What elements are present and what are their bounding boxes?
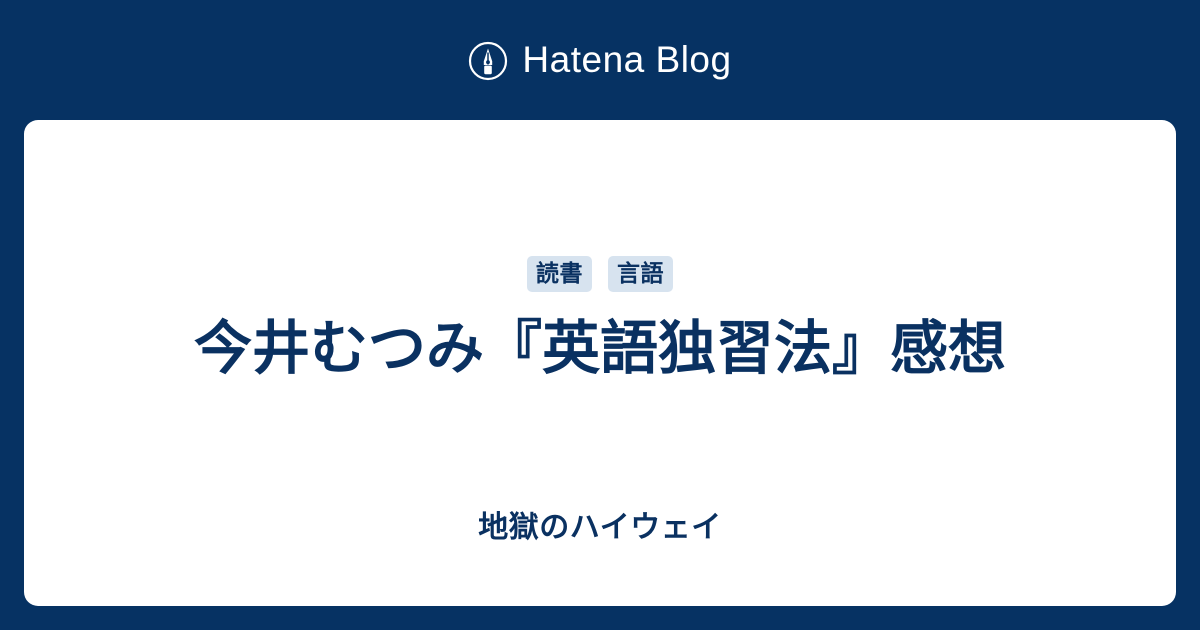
fountain-pen-nib-icon (468, 41, 508, 81)
entry-title: 今井むつみ『英語独習法』感想 (24, 310, 1176, 388)
entry-tag[interactable]: 読書 (527, 256, 592, 292)
entry-tag[interactable]: 言語 (608, 256, 673, 292)
blog-title[interactable]: 地獄のハイウェイ (24, 508, 1176, 548)
og-image-card: Hatena Blog 読書 言語 今井むつみ『英語独習法』感想 地獄のハイウェ… (0, 0, 1200, 630)
entry-card: 読書 言語 今井むつみ『英語独習法』感想 地獄のハイウェイ (24, 120, 1176, 606)
hatena-blog-brand[interactable]: Hatena Blog (0, 0, 1200, 120)
brand-name: Hatena Blog (522, 40, 731, 80)
tag-list: 読書 言語 (24, 256, 1176, 292)
